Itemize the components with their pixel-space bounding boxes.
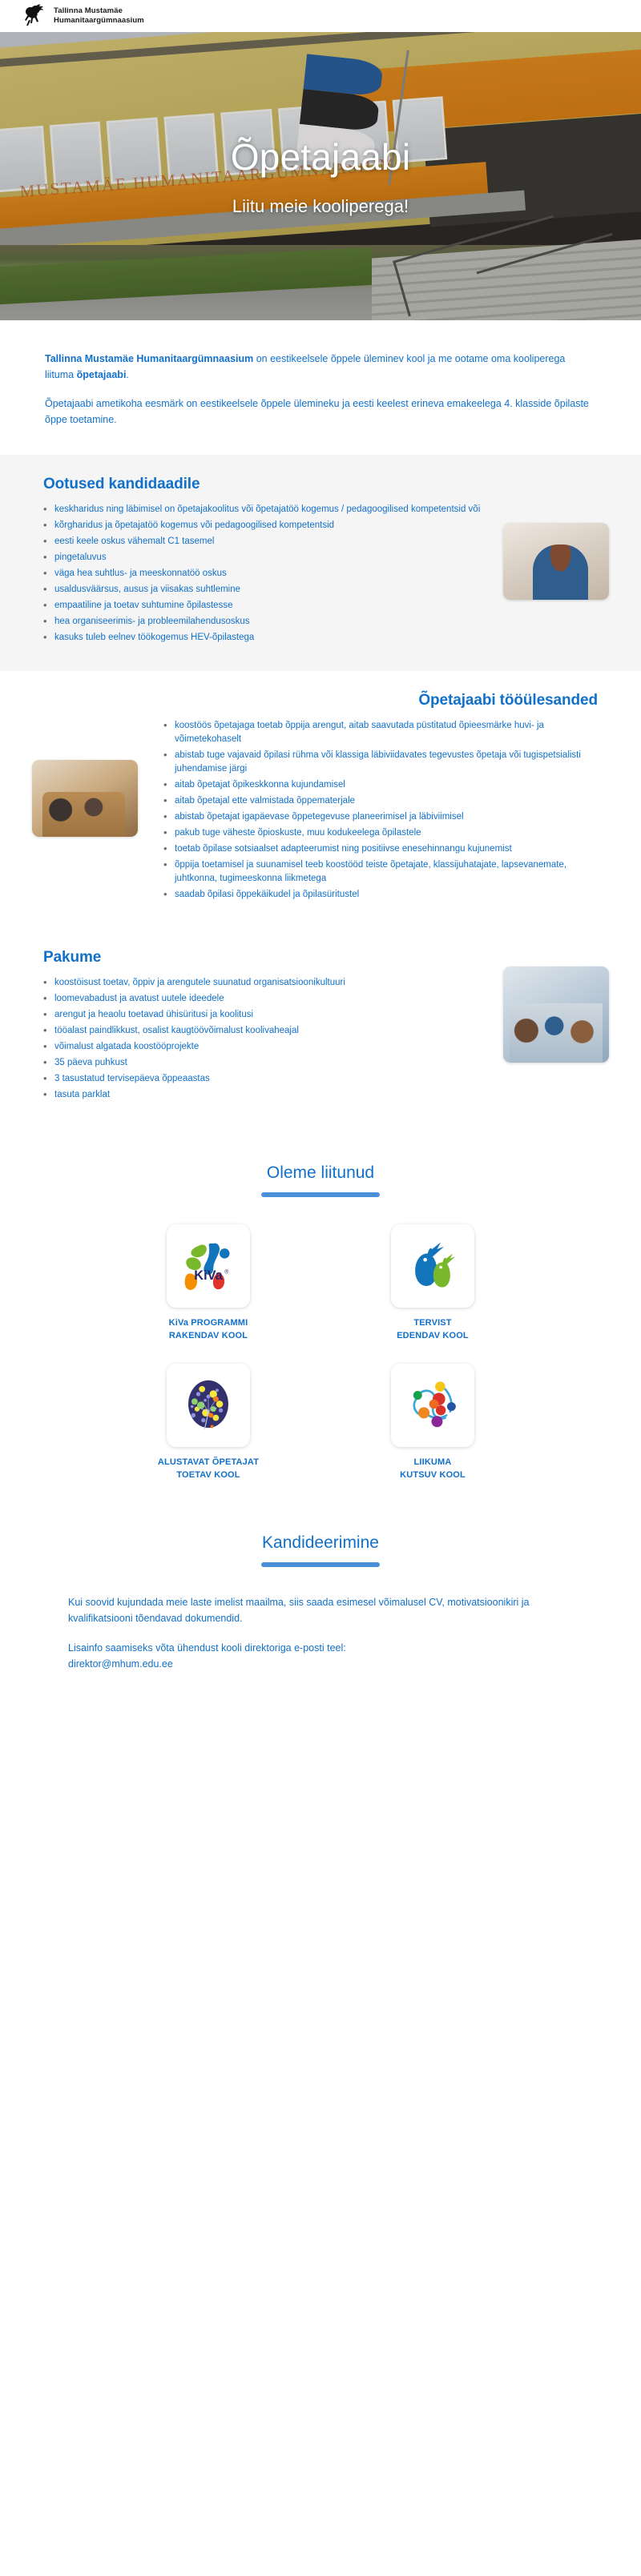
partner-logo-grid: KiVa ® KiVa PROGRAMMI RAKENDAV KOOL TERV… [112, 1224, 529, 1482]
hero-subtitle: Liitu meie kooliperega! [232, 196, 409, 217]
duties-list: koostöös õpetajaga toetab õppija arengut… [152, 719, 609, 902]
svg-text:KiVa: KiVa [194, 1269, 223, 1284]
list-item: hea organiseerimis- ja probleemilahendus… [32, 615, 489, 629]
list-item: keskharidus ning läbimisel on õpetajakoo… [32, 503, 489, 516]
apply-section: Kandideerimine Kui soovid kujundada meie… [0, 1500, 641, 1709]
partner-logo-liikuma-kutsuv[interactable]: LIIKUMA KUTSUV KOOL [337, 1364, 529, 1482]
list-item: abistab tuge vajavaid õpilasi rühma või … [152, 749, 609, 776]
director-email[interactable]: direktor@mhum.edu.ee [68, 1658, 173, 1670]
intro-paragraph-2: Õpetajaabi ametikoha eesmärk on eestikee… [45, 396, 596, 428]
school-name-text: Tallinna Mustamäe Humanitaargümnaasium [54, 6, 144, 26]
list-item: kõrgharidus ja õpetajatöö kogemus või pe… [32, 519, 489, 532]
move-dots-logo-icon [401, 1374, 464, 1437]
list-item: saadab õpilasi õppekäikudel ja õpilasüri… [152, 888, 609, 902]
pegasus-icon [21, 3, 46, 29]
partners-heading: Oleme liitunud [32, 1163, 609, 1183]
list-item: arengut ja heaolu toetavad ühisüritusi j… [32, 1008, 489, 1022]
kiva-logo-icon: KiVa ® [177, 1235, 240, 1297]
expectations-section: Ootused kandidaadile keskharidus ning lä… [0, 455, 641, 671]
intro-section: Tallinna Mustamäe Humanitaargümnaasium o… [0, 320, 641, 455]
list-item: loomevabadust ja avatust uutele ideedele [32, 992, 489, 1006]
expectations-list: keskharidus ning läbimisel on õpetajakoo… [32, 503, 489, 645]
list-item: võimalust algatada koostööprojekte [32, 1040, 489, 1054]
list-item: koostöisust toetav, õppiv ja arengutele … [32, 976, 489, 990]
intro-school-name: Tallinna Mustamäe Humanitaargümnaasium [45, 353, 253, 364]
partners-section: Oleme liitunud KiVa ® KiVa PROGRAMMI RAK… [0, 1128, 641, 1500]
group-of-pupils-photo [503, 967, 609, 1063]
offer-section: Pakume koostöisust toetav, õppiv ja aren… [0, 928, 641, 1128]
partner-caption: ALUSTAVAT ÕPETAJAT TOETAV KOOL [158, 1457, 259, 1482]
health-birds-logo-icon [401, 1235, 464, 1297]
apply-paragraph-2: Lisainfo saamiseks võta ühendust kooli d… [68, 1640, 573, 1673]
partner-caption: KiVa PROGRAMMI RAKENDAV KOOL [169, 1317, 248, 1343]
apply-heading: Kandideerimine [32, 1533, 609, 1553]
list-item: tööalast paindlikkust, osalist kaugtöövõ… [32, 1024, 489, 1038]
svg-text:®: ® [224, 1269, 229, 1276]
hero-banner: MUSTAMÄE HUMANITAARGÜMNAASIUM Õpetajaabi… [0, 32, 641, 320]
site-header: Tallinna Mustamäe Humanitaargümnaasium [0, 0, 641, 32]
list-item: toetab õpilase sotsiaalset adapteerumist… [152, 842, 609, 856]
heading-rule [261, 1192, 380, 1197]
list-item: aitab õpetajal ette valmistada õppemater… [152, 794, 609, 808]
list-item: pakub tuge väheste õpioskuste, muu koduk… [152, 826, 609, 840]
expectations-heading: Ootused kandidaadile [43, 476, 489, 493]
list-item: 3 tasustatud tervisepäeva õppeaastas [32, 1072, 489, 1086]
teacher-at-desk-photo [503, 523, 609, 600]
intro-role-name: õpetajaabi [77, 369, 127, 380]
list-item: abistab õpetajat igapäevase õppetegevuse… [152, 810, 609, 824]
intro-p1-tail: . [126, 369, 128, 380]
partner-caption: TERVIST EDENDAV KOOL [397, 1317, 469, 1343]
list-item: õppija toetamisel ja suunamisel teeb koo… [152, 858, 609, 886]
offer-list: koostöisust toetav, õppiv ja arengutele … [32, 976, 489, 1102]
heading-rule [261, 1562, 380, 1567]
list-item: empaatiline ja toetav suhtumine õpilaste… [32, 599, 489, 613]
duties-heading: Õpetajaabi tööülesanded [152, 692, 598, 709]
list-item: väga hea suhtlus- ja meeskonnatöö oskus [32, 567, 489, 581]
partner-logo-tervist-edendav[interactable]: TERVIST EDENDAV KOOL [337, 1224, 529, 1343]
list-item: pingetaluvus [32, 551, 489, 565]
list-item: eesti keele oskus vähemalt C1 tasemel [32, 535, 489, 549]
apply-paragraph-1: Kui soovid kujundada meie laste imelist … [68, 1594, 573, 1627]
duties-section: Õpetajaabi tööülesanded koostöös õpetaja… [0, 671, 641, 928]
list-item: koostöös õpetajaga toetab õppija arengut… [152, 719, 609, 746]
offer-heading: Pakume [43, 949, 489, 967]
list-item: usaldusväärsus, ausus ja viisakas suhtle… [32, 583, 489, 597]
list-item: kasuks tuleb eelnev töökogemus HEV-õpila… [32, 631, 489, 645]
partner-logo-kiva[interactable]: KiVa ® KiVa PROGRAMMI RAKENDAV KOOL [112, 1224, 304, 1343]
list-item: tasuta parklat [32, 1088, 489, 1102]
partner-logo-alustavat-opetajat[interactable]: ALUSTAVAT ÕPETAJAT TOETAV KOOL [112, 1364, 304, 1482]
partner-caption: LIIKUMA KUTSUV KOOL [400, 1457, 466, 1482]
list-item: 35 päeva puhkust [32, 1056, 489, 1070]
dandelion-logo-icon [177, 1374, 240, 1437]
page-title: Õpetajaabi [231, 135, 411, 179]
school-logo-lockup[interactable]: Tallinna Mustamäe Humanitaargümnaasium [21, 3, 144, 29]
intro-paragraph-1: Tallinna Mustamäe Humanitaargümnaasium o… [45, 351, 596, 384]
classroom-activity-photo [32, 760, 138, 837]
apply-contact-text: Lisainfo saamiseks võta ühendust kooli d… [68, 1642, 346, 1654]
list-item: aitab õpetajat õpikeskkonna kujundamisel [152, 778, 609, 792]
